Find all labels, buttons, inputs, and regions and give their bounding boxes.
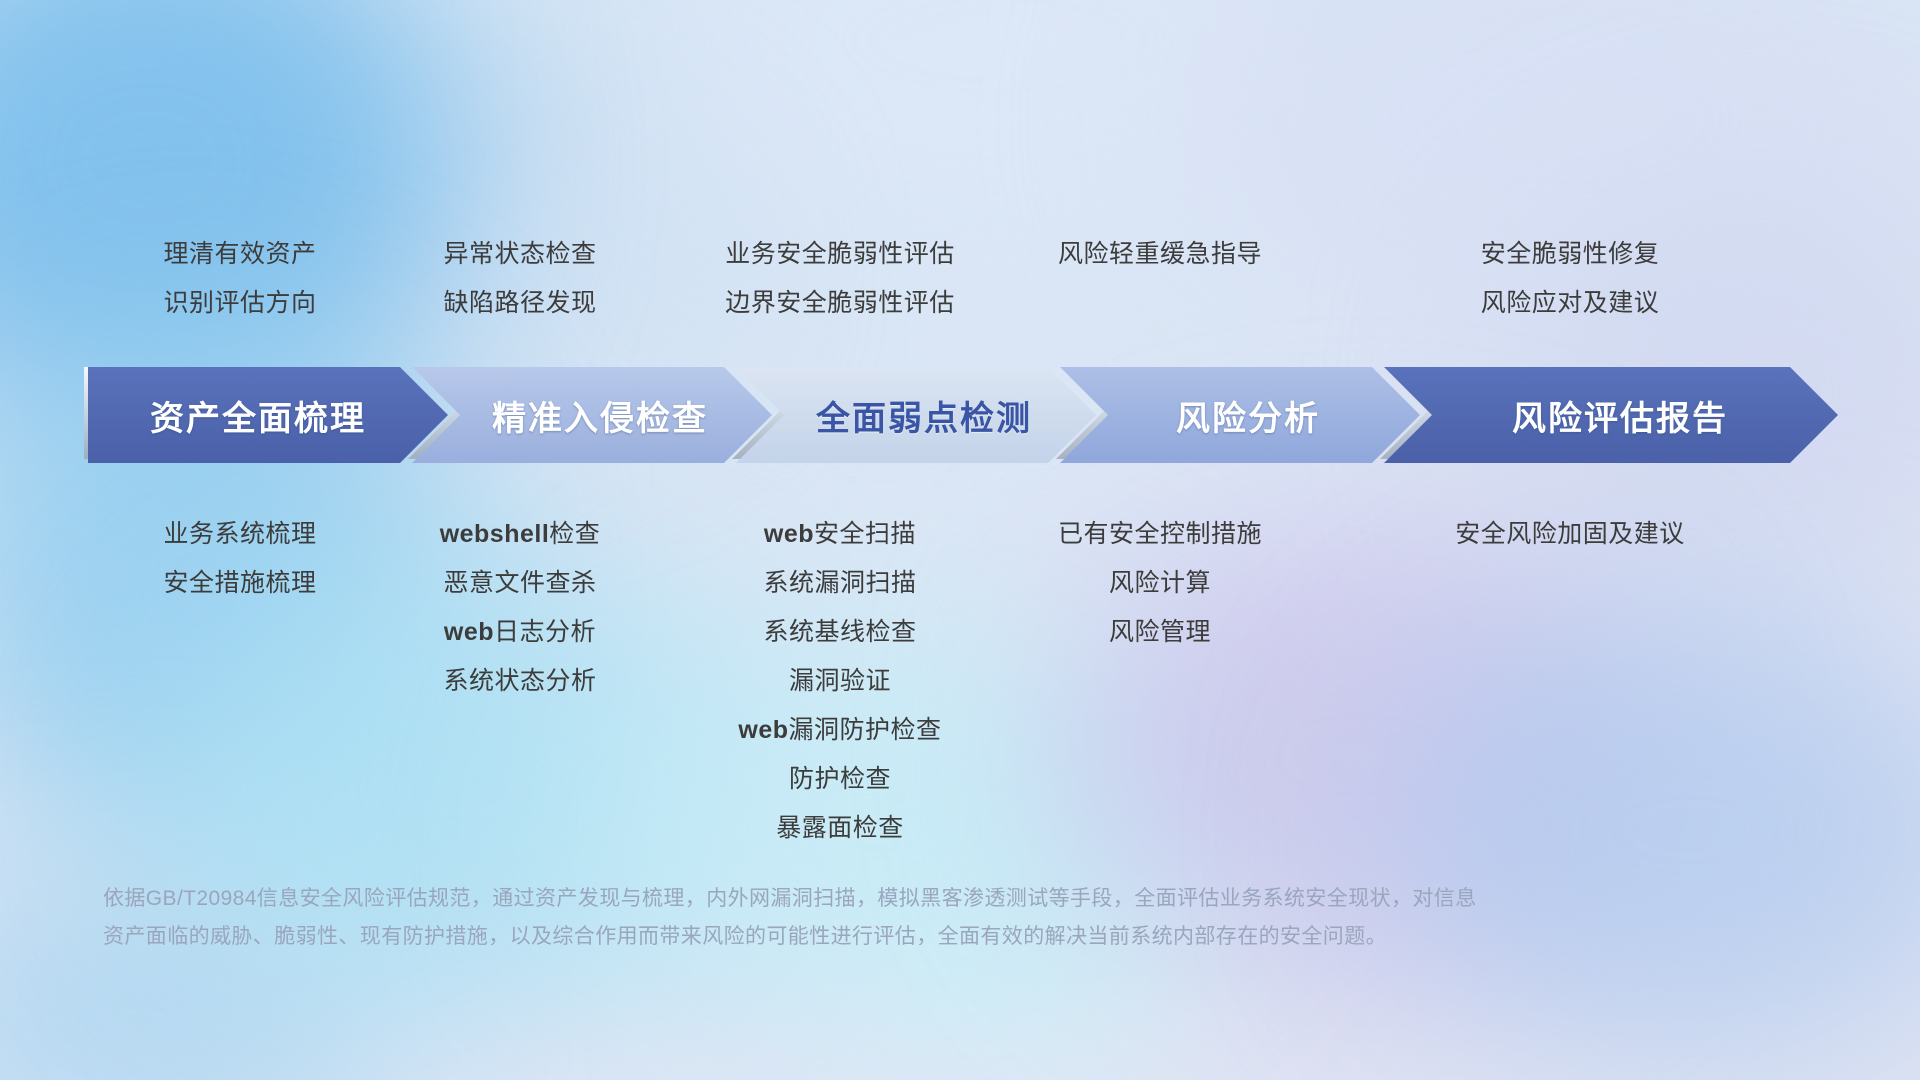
stage-5-top-item: 风险应对及建议 — [1380, 279, 1760, 328]
footer-line-1: 依据GB/T20984信息安全风险评估规范，通过资产发现与梳理，内外网漏洞扫描，… — [103, 880, 1603, 918]
emphasis-text: web — [444, 618, 494, 646]
stage-4-bottom-item: 风险管理 — [980, 608, 1340, 657]
stage-3-bottom-item: 暴露面检查 — [640, 804, 1040, 853]
emphasis-text: web — [738, 716, 788, 744]
stage-3-bottom-item: 漏洞验证 — [640, 657, 1040, 706]
footer-line-2: 资产面临的威胁、脆弱性、现有防护措施，以及综合作用而带来风险的可能性进行评估，全… — [103, 918, 1603, 956]
stage-4-bottom-item: 风险计算 — [980, 559, 1340, 608]
item-text: 漏洞防护检查 — [789, 716, 942, 744]
process-diagram: 理清有效资产识别评估方向 异常状态检查缺陷路径发现 业务安全脆弱性评估边界安全脆… — [0, 0, 1920, 1080]
stage-5-top-labels: 安全脆弱性修复风险应对及建议 — [1380, 230, 1760, 328]
footer-description: 依据GB/T20984信息安全风险评估规范，通过资产发现与梳理，内外网漏洞扫描，… — [103, 880, 1603, 956]
stage-5-top-item: 安全脆弱性修复 — [1380, 230, 1760, 279]
emphasis-text: webshell — [440, 520, 550, 548]
stage-3-bottom-item: 防护检查 — [640, 755, 1040, 804]
stage-4-bottom-items: 已有安全控制措施风险计算风险管理 — [980, 510, 1340, 657]
stage-3-top-item: 边界安全脆弱性评估 — [640, 279, 1040, 328]
item-text: 安全扫描 — [814, 520, 916, 548]
stage-4-bottom-item: 已有安全控制措施 — [980, 510, 1340, 559]
stage-5-bottom-items: 安全风险加固及建议 — [1380, 510, 1760, 559]
stage-4-top-labels: 风险轻重缓急指导 — [980, 230, 1340, 279]
item-text: 日志分析 — [494, 618, 596, 646]
emphasis-text: web — [764, 520, 814, 548]
stage-5-bottom-item: 安全风险加固及建议 — [1380, 510, 1760, 559]
stage-3-bottom-item: web漏洞防护检查 — [640, 706, 1040, 755]
item-text: 检查 — [549, 520, 600, 548]
stage-chevron-band — [0, 367, 1920, 463]
stage-4-top-item: 风险轻重缓急指导 — [980, 230, 1340, 279]
